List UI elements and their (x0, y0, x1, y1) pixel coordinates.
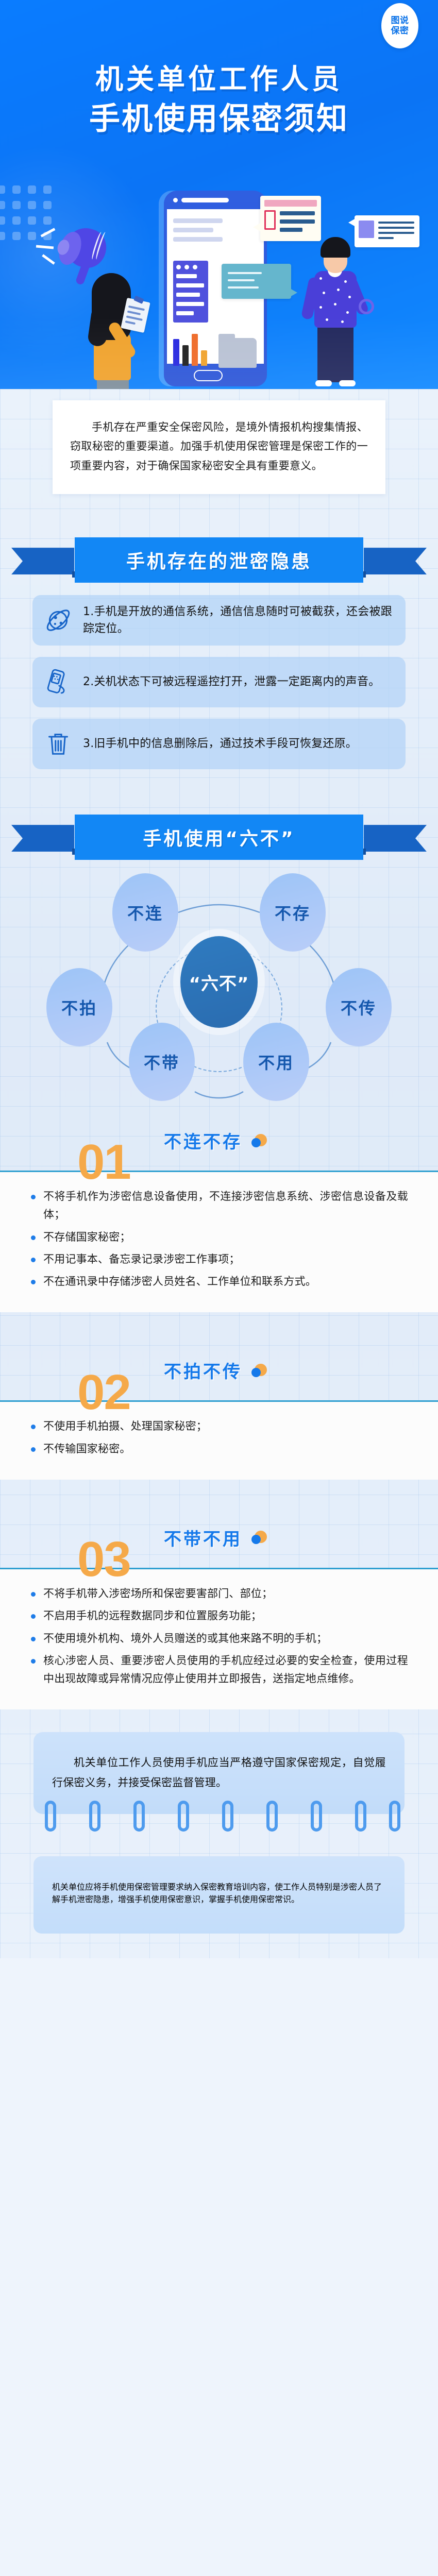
section-header: 03 不带不用 (0, 1509, 438, 1569)
node-label: 不存 (275, 901, 311, 924)
section-body: 不将手机带入涉密场所和保密要害部门、部位； 不启用手机的远程数据同步和位置服务功… (0, 1569, 438, 1709)
ribbon-wing-right (364, 548, 427, 574)
section-01: 01 不连不存 不将手机作为涉密信息设备使用，不连接涉密信息系统、涉密信息设备及… (0, 1111, 438, 1312)
risk-item: 3.旧手机中的信息删除后，通过技术手段可恢复还原。 (32, 719, 406, 769)
ribbon-plate: 手机存在的泄密隐患 (75, 537, 363, 583)
six-no-section-banner: 手机使用“六不” (0, 801, 438, 859)
title-line-2: 手机使用保密须知 (0, 100, 438, 139)
six-no-center-node: “六不” (180, 936, 258, 1028)
closing-card-2: 机关单位应将手机使用保密管理要求纳入保密教育培训内容，使工作人员特别是涉密人员了… (33, 1856, 405, 1934)
section-number: 03 (77, 1539, 130, 1580)
brand-badge: 图说 保密 (381, 3, 418, 48)
section-title: 不拍不传 (164, 1358, 242, 1383)
dual-dot-icon (249, 1364, 267, 1377)
six-no-node: 不连 (112, 873, 178, 952)
hero-banner: 图说 保密 机关单位工作人员 手机使用保密须知 (0, 0, 438, 389)
section-number: 01 (77, 1142, 130, 1183)
bullet-item: 不使用手机拍摄、处理国家秘密； (30, 1417, 408, 1435)
closing-card-1: 机关单位工作人员使用手机应当严格遵守国家保密规定，自觉履行保密义务，并接受保密监… (33, 1732, 405, 1814)
six-no-node: 不传 (326, 968, 392, 1046)
section-bullet-list: 不将手机作为涉密信息设备使用，不连接涉密信息系统、涉密信息设备及载体； 不存储国… (30, 1188, 408, 1291)
notification-card-3 (222, 264, 291, 299)
six-no-node: 不存 (260, 873, 326, 952)
spiral-binding-decoration (33, 1814, 405, 1856)
node-label: 不传 (341, 995, 377, 1019)
closing-paragraph-2: 机关单位应将手机使用保密管理要求纳入保密教育培训内容，使工作人员特别是涉密人员了… (52, 1880, 386, 1905)
notification-card-1 (260, 196, 321, 241)
node-label: 不用 (258, 1050, 294, 1074)
section-header: 02 不拍不传 (0, 1341, 438, 1402)
section-02: 02 不拍不传 不使用手机拍摄、处理国家秘密； 不传输国家秘密。 (0, 1341, 438, 1480)
intro-card: 手机存在严重安全保密风险，是境外情报机构搜集情报、窃取秘密的重要渠道。加强手机使… (53, 400, 385, 494)
dual-dot-icon (249, 1531, 267, 1544)
bullet-item: 不在通讯录中存储涉密人员姓名、工作单位和联系方式。 (30, 1273, 408, 1291)
node-label: 不带 (144, 1050, 180, 1074)
risk-item-text: 2.关机状态下可被远程遥控打开，泄露一定距离内的声音。 (83, 673, 380, 690)
six-no-node: 不拍 (46, 968, 112, 1046)
six-no-node: 不用 (243, 1023, 309, 1101)
section-bullet-list: 不将手机带入涉密场所和保密要害部门、部位； 不启用手机的远程数据同步和位置服务功… (30, 1585, 408, 1688)
section-body: 不将手机作为涉密信息设备使用，不连接涉密信息系统、涉密信息设备及载体； 不存储国… (0, 1172, 438, 1312)
section-header: 01 不连不存 (0, 1111, 438, 1172)
risk-item: 1.手机是开放的通信系统，通信信息随时可被截获，还会被跟踪定位。 (32, 595, 406, 646)
six-no-diagram: 不连 不存 不拍 不传 不带 不用 “六不” (0, 859, 438, 1106)
content-body: 手机存在严重安全保密风险，是境外情报机构搜集情报、窃取秘密的重要渠道。加强手机使… (0, 389, 438, 1958)
page-title: 机关单位工作人员 手机使用保密须知 (0, 62, 438, 139)
ribbon-wing-right (364, 825, 427, 852)
risk-item: 2.关机状态下可被远程遥控打开，泄露一定距离内的声音。 (32, 657, 406, 707)
bullet-item: 不启用手机的远程数据同步和位置服务功能； (30, 1607, 408, 1625)
badge-line-1: 图说 (391, 16, 409, 25)
phone-in-hand-icon (43, 667, 74, 698)
risk-banner-label: 手机存在的泄密隐患 (126, 547, 312, 573)
magnifier-icon (359, 299, 374, 314)
center-label: “六不” (189, 970, 249, 995)
six-no-banner-label: 手机使用“六不” (143, 824, 295, 851)
bullet-item: 核心涉密人员、重要涉密人员使用的手机应经过必要的安全检查，使用过程中出现故障或异… (30, 1652, 408, 1688)
section-number: 02 (77, 1372, 130, 1413)
badge-line-2: 保密 (391, 26, 409, 36)
section-title: 不连不存 (164, 1128, 242, 1153)
risk-item-text: 1.手机是开放的通信系统，通信信息随时可被截获，还会被跟踪定位。 (83, 603, 392, 638)
closing-section: 机关单位工作人员使用手机应当严格遵守国家保密规定，自觉履行保密义务，并接受保密监… (0, 1709, 438, 1958)
bullet-item: 不传输国家秘密。 (30, 1440, 408, 1458)
six-no-node: 不带 (129, 1023, 195, 1101)
title-line-1: 机关单位工作人员 (0, 62, 438, 97)
bullet-item: 不存储国家秘密； (30, 1228, 408, 1246)
section-03: 03 不带不用 不将手机带入涉密场所和保密要害部门、部位； 不启用手机的远程数据… (0, 1509, 438, 1709)
section-body: 不使用手机拍摄、处理国家秘密； 不传输国家秘密。 (0, 1402, 438, 1480)
risk-section-banner: 手机存在的泄密隐患 (0, 524, 438, 582)
node-label: 不连 (127, 901, 163, 924)
trash-bin-icon (43, 728, 74, 759)
section-bullet-list: 不使用手机拍摄、处理国家秘密； 不传输国家秘密。 (30, 1417, 408, 1458)
risk-list: 1.手机是开放的通信系统，通信信息随时可被截获，还会被跟踪定位。 2.关机状态下… (0, 582, 438, 786)
node-label: 不拍 (61, 995, 97, 1019)
bullet-item: 不将手机带入涉密场所和保密要害部门、部位； (30, 1585, 408, 1603)
ribbon-plate: 手机使用“六不” (75, 815, 363, 860)
ribbon-wing-left (11, 825, 74, 852)
satellite-orbit-icon (43, 605, 74, 636)
ribbon-wing-left (11, 548, 74, 574)
risk-item-text: 3.旧手机中的信息删除后，通过技术手段可恢复还原。 (83, 735, 357, 752)
section-title: 不带不用 (164, 1525, 242, 1550)
dual-dot-icon (249, 1134, 267, 1147)
intro-paragraph: 手机存在严重安全保密风险，是境外情报机构搜集情报、窃取秘密的重要渠道。加强手机使… (70, 418, 368, 476)
bullet-item: 不用记事本、备忘录记录涉密工作事项； (30, 1250, 408, 1268)
closing-paragraph-1: 机关单位工作人员使用手机应当严格遵守国家保密规定，自觉履行保密义务，并接受保密监… (52, 1753, 386, 1792)
infographic-page: 图说 保密 机关单位工作人员 手机使用保密须知 (0, 0, 438, 2576)
bullet-item: 不使用境外机构、境外人员赠送的或其他来路不明的手机； (30, 1630, 408, 1648)
bullet-item: 不将手机作为涉密信息设备使用，不连接涉密信息系统、涉密信息设备及载体； (30, 1188, 408, 1224)
